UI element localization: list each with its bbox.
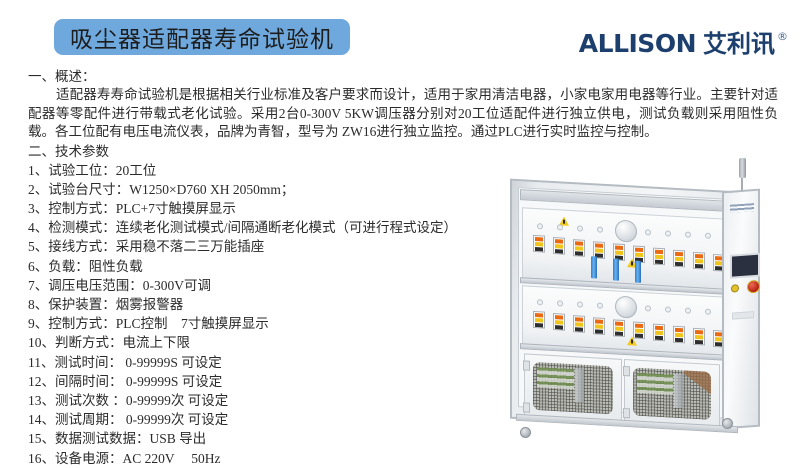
panel-meter xyxy=(613,319,625,337)
registered-trademark-icon: ® xyxy=(777,31,788,42)
caster-wheel xyxy=(520,427,531,438)
blue-connector xyxy=(591,256,597,278)
panel-meter xyxy=(653,324,665,342)
machine-photo xyxy=(448,162,800,450)
panel-meter xyxy=(593,317,605,335)
panel-meter xyxy=(693,252,705,270)
page-title: 吸尘器适配器寿命试验机 xyxy=(70,20,334,54)
blue-connector xyxy=(613,258,619,280)
panel-meter xyxy=(653,248,665,266)
indicator-button[interactable] xyxy=(731,284,739,293)
brand-chinese-text: 艾利讯 xyxy=(703,30,775,58)
emergency-stop-button[interactable] xyxy=(747,280,760,294)
panel-meter xyxy=(553,313,565,331)
panel-screw xyxy=(665,230,671,236)
door-hinge xyxy=(523,360,530,370)
touchscreen-display[interactable] xyxy=(730,253,760,279)
mesh-window xyxy=(633,368,711,420)
panel-screw xyxy=(557,300,563,306)
internal-support xyxy=(575,368,585,402)
panel-meter xyxy=(673,326,685,344)
brand-logo: ALLISON 艾利讯 ® xyxy=(579,30,788,64)
panel-meter xyxy=(533,311,545,329)
brand-latin-text: ALLISON xyxy=(579,30,696,58)
voltage-regulator-knob[interactable] xyxy=(615,219,637,242)
control-column xyxy=(722,189,760,430)
panel-screw xyxy=(577,301,583,307)
panel-screw xyxy=(665,306,671,312)
panel-meter xyxy=(673,250,685,268)
door-hinge xyxy=(623,408,630,418)
caster-wheel xyxy=(722,418,733,429)
panel-screw xyxy=(645,305,651,311)
door-hinge xyxy=(523,402,530,412)
overview-heading: 一、概述： xyxy=(28,68,780,86)
resistor-bank xyxy=(537,367,574,389)
panel-screw xyxy=(705,233,711,239)
panel-meter xyxy=(693,328,705,346)
panel-screw xyxy=(685,307,691,313)
panel-screw xyxy=(705,309,711,315)
tower-lamp-icon xyxy=(739,158,746,178)
spec-item-16: 16、设备电源：AC 220V 50Hz xyxy=(28,449,780,468)
cabinet-door-right[interactable] xyxy=(624,359,720,428)
panel-meter xyxy=(573,239,585,257)
specs-heading: 二、技术参数 xyxy=(28,143,780,161)
panel-screw xyxy=(537,299,543,305)
panel-meter xyxy=(553,237,565,255)
internal-support xyxy=(674,374,683,408)
page-title-box: 吸尘器适配器寿命试验机 xyxy=(54,19,350,55)
panel-screw xyxy=(597,302,603,308)
internal-panel xyxy=(684,370,711,401)
panel-meter xyxy=(573,315,585,333)
panel-screw xyxy=(537,223,543,229)
cabinet-door-left[interactable] xyxy=(524,353,622,422)
cabinet-frame xyxy=(510,179,738,432)
door-hinge xyxy=(623,366,630,376)
panel-screw xyxy=(597,226,603,232)
panel-screw xyxy=(577,225,583,231)
control-column-nameplate xyxy=(730,203,754,213)
voltage-regulator-knob[interactable] xyxy=(615,295,637,318)
panel-screw xyxy=(645,229,651,235)
panel-screw xyxy=(685,231,691,237)
panel-meter xyxy=(633,322,645,340)
test-cabinet-illustration xyxy=(510,180,760,435)
panel-screw xyxy=(557,224,563,230)
mesh-window xyxy=(533,362,613,414)
blue-connector xyxy=(635,261,641,283)
control-column-plate xyxy=(732,311,754,320)
panel-meter xyxy=(533,235,545,253)
overview-paragraph: 适配器寿寿命试验机是根据相关行业标准及客户要求而设计，适用于家用清洁电器，小家电… xyxy=(28,86,778,142)
resistor-bank xyxy=(637,373,673,395)
